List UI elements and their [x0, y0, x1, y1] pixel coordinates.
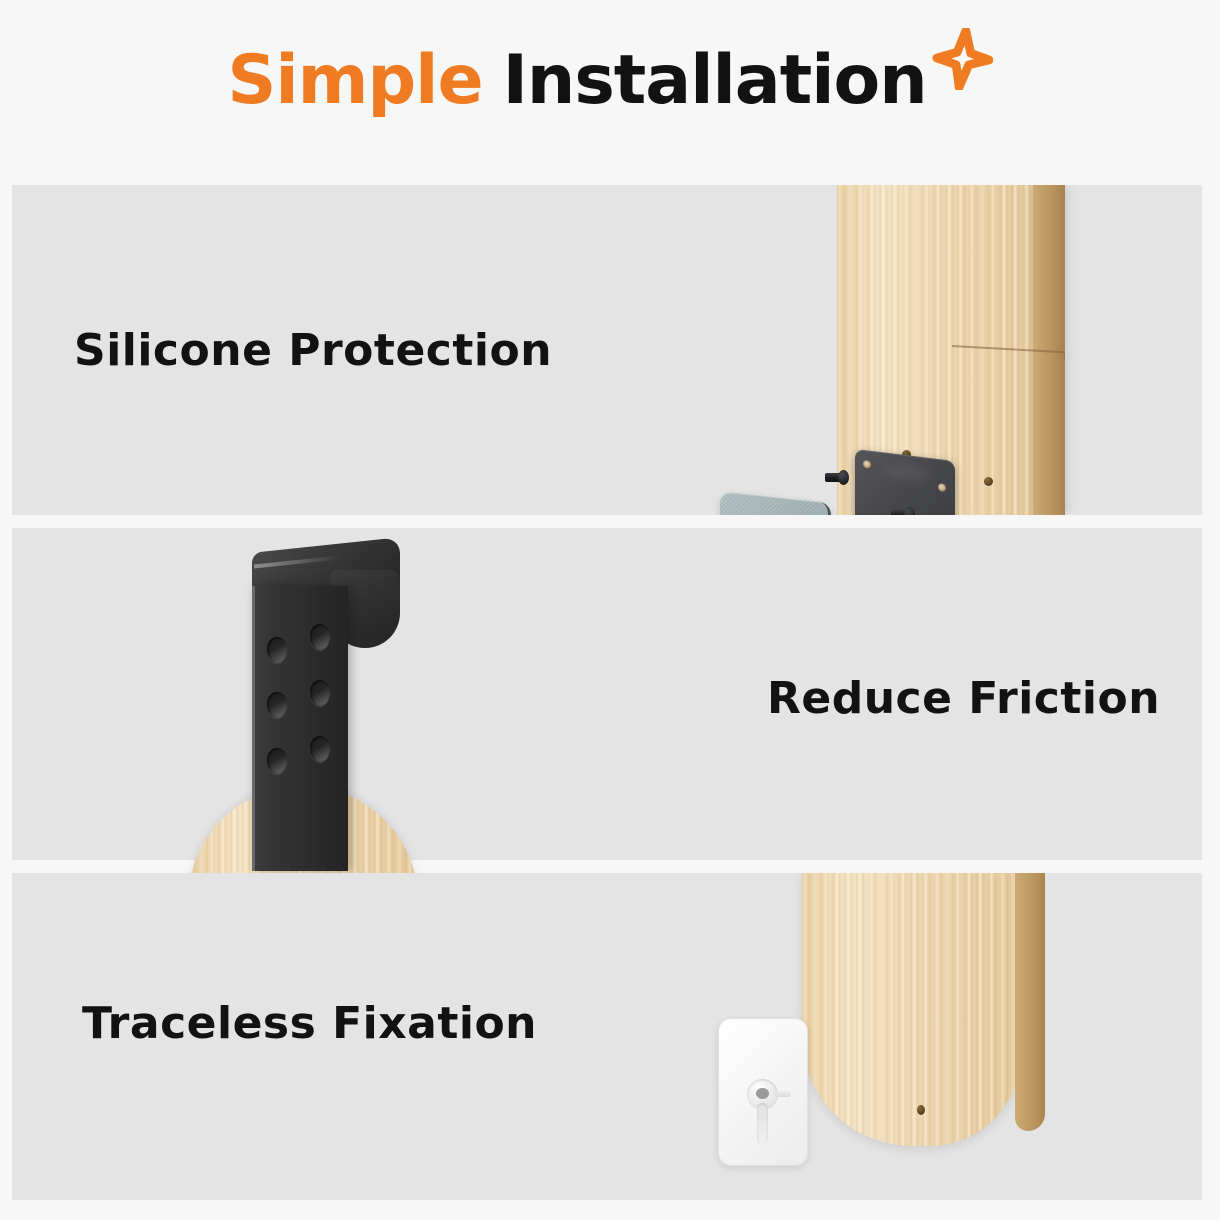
feature-panel-traceless-fixation: Traceless Fixation [12, 873, 1202, 1200]
keyhole-center-dot [756, 1088, 769, 1099]
wood-board-rounded [802, 873, 1020, 1146]
page-title-accent-word: Simple [227, 41, 482, 120]
panel-label-silicone-protection: Silicone Protection [74, 325, 552, 376]
page-header: Simple Installation [0, 0, 1220, 160]
silicone-pad [720, 491, 831, 515]
adhesive-sticker [718, 1018, 808, 1166]
mounting-plate [855, 449, 955, 515]
sparkle-icon [931, 28, 993, 90]
keyhole-nub [777, 1090, 791, 1097]
screw-head [838, 470, 849, 485]
board-screw-hole [984, 477, 993, 486]
keyhole-slot [757, 1103, 768, 1145]
hook-body [252, 586, 348, 871]
panel-label-traceless-fixation: Traceless Fixation [82, 998, 537, 1049]
page-title: Simple Installation [227, 41, 992, 120]
screw-head [904, 507, 915, 515]
plate-highlight [885, 463, 929, 483]
feature-panel-silicone-protection: Silicone Protection [12, 185, 1202, 515]
page-title-main-word: Installation [503, 41, 927, 120]
plate-hole [938, 483, 946, 492]
board-screw-hole [917, 1105, 925, 1115]
panel-label-reduce-friction: Reduce Friction [767, 673, 1160, 724]
plate-hole [863, 460, 871, 469]
wood-board-edge [1015, 873, 1045, 1131]
feature-panel-reduce-friction: Reduce Friction [12, 528, 1202, 860]
